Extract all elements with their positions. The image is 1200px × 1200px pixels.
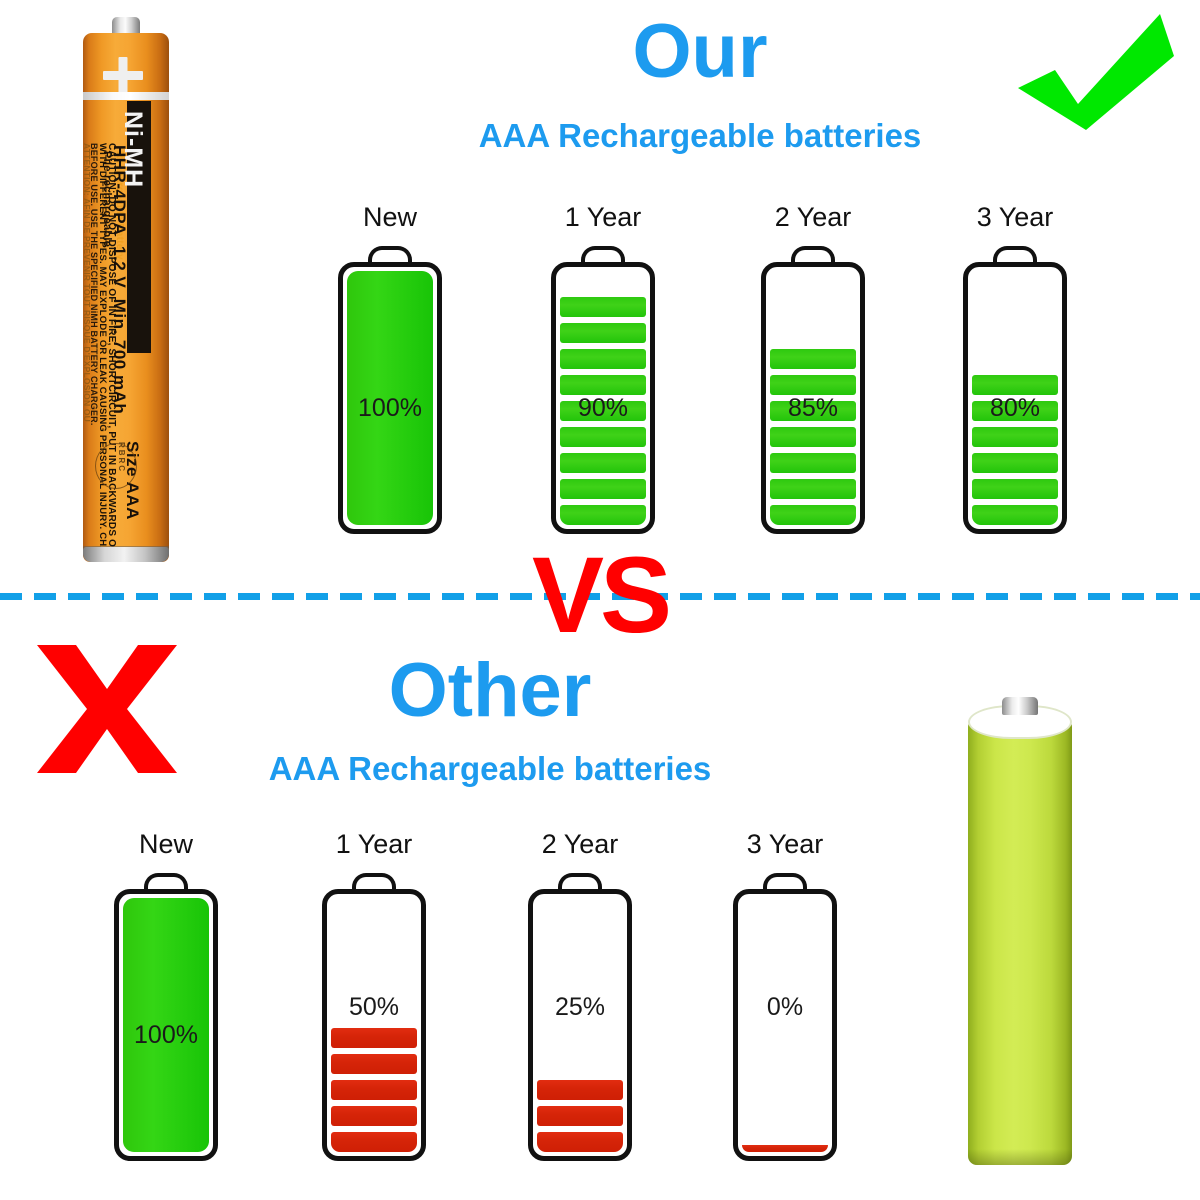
meter-new-other: New 100%	[114, 873, 218, 1161]
x-icon	[33, 639, 181, 779]
meter-segments	[331, 898, 417, 1152]
meter-segment	[972, 375, 1058, 395]
meter-segment	[560, 401, 646, 421]
meter-segment	[537, 1080, 623, 1100]
meter-label: 1 Year	[551, 202, 655, 233]
rbrc-recycle-icon: RBRC	[95, 443, 137, 489]
meter-label: 3 Year	[733, 829, 837, 860]
meter-body	[322, 889, 426, 1161]
meter-segment	[770, 453, 856, 473]
meter-segment	[560, 375, 646, 395]
meter-fill-solid	[123, 898, 209, 1152]
meter-body	[733, 889, 837, 1161]
battery-green-wrap	[968, 717, 1072, 1165]
meter-segment	[560, 479, 646, 499]
meter-segment	[770, 375, 856, 395]
check-icon	[1010, 12, 1180, 132]
meter-segment	[537, 1132, 623, 1152]
battery-orange-wrap: Ni-MH Rechargeable Battery Pile recharge…	[83, 33, 169, 562]
battery-bottom-shading	[968, 1149, 1072, 1165]
meter-segment	[331, 1028, 417, 1048]
meter-segment	[560, 427, 646, 447]
meter-segment	[972, 427, 1058, 447]
meter-segments	[742, 898, 828, 1152]
meter-segment	[972, 453, 1058, 473]
meter-segment	[331, 1106, 417, 1126]
meter-2year-other: 2 Year 25%	[528, 873, 632, 1161]
meter-label: 2 Year	[761, 202, 865, 233]
meter-segment	[560, 453, 646, 473]
meter-segment	[331, 1080, 417, 1100]
our-subtitle: AAA Rechargeable batteries	[400, 119, 1000, 152]
meter-segment	[972, 401, 1058, 421]
plus-symbol-icon-bar	[103, 71, 143, 80]
meter-body	[551, 262, 655, 534]
meter-body	[114, 889, 218, 1161]
other-title: Other	[210, 653, 770, 729]
meter-segment	[560, 349, 646, 369]
comparison-infographic: Ni-MH Rechargeable Battery Pile recharge…	[0, 0, 1200, 1200]
meter-1year-our: 1 Year 90%	[551, 246, 655, 534]
meter-segment	[331, 1054, 417, 1074]
meter-label: New	[338, 202, 442, 233]
meter-new-our: New 100%	[338, 246, 442, 534]
meter-segment	[770, 505, 856, 525]
other-subtitle: AAA Rechargeable batteries	[190, 752, 790, 785]
meter-segment	[770, 349, 856, 369]
meter-segment	[331, 1132, 417, 1152]
meter-segment	[770, 427, 856, 447]
battery-positive-terminal	[1002, 697, 1038, 715]
meter-segment	[770, 401, 856, 421]
vs-label: VS	[0, 541, 1200, 649]
meter-body	[338, 262, 442, 534]
meter-segment	[972, 479, 1058, 499]
meter-segments	[560, 271, 646, 525]
meter-body	[963, 262, 1067, 534]
other-product-battery-photo	[968, 697, 1072, 1167]
meter-2year-our: 2 Year 85%	[761, 246, 865, 534]
meter-segment	[770, 479, 856, 499]
battery-caution-text-4: ATTENTION: AFIN DE PREVENIR TOUT RISQUE …	[83, 143, 91, 422]
meter-segment	[560, 323, 646, 343]
meter-segment	[560, 297, 646, 317]
meter-segment	[537, 1106, 623, 1126]
meter-label: 1 Year	[322, 829, 426, 860]
meter-segment	[742, 1145, 828, 1152]
meter-segment	[560, 505, 646, 525]
meter-body	[761, 262, 865, 534]
meter-1year-other: 1 Year 50%	[322, 873, 426, 1161]
meter-segments	[770, 271, 856, 525]
battery-silver-band	[83, 92, 169, 100]
meter-label: 2 Year	[528, 829, 632, 860]
meter-3year-other: 3 Year 0%	[733, 873, 837, 1161]
meter-label: 3 Year	[963, 202, 1067, 233]
meter-segments	[972, 271, 1058, 525]
meter-3year-our: 3 Year 80%	[963, 246, 1067, 534]
meter-body	[528, 889, 632, 1161]
our-product-battery-photo: Ni-MH Rechargeable Battery Pile recharge…	[83, 17, 169, 570]
meter-fill-solid	[347, 271, 433, 525]
our-title: Our	[420, 14, 980, 90]
meter-label: New	[114, 829, 218, 860]
meter-segment	[972, 505, 1058, 525]
meter-segments	[537, 898, 623, 1152]
